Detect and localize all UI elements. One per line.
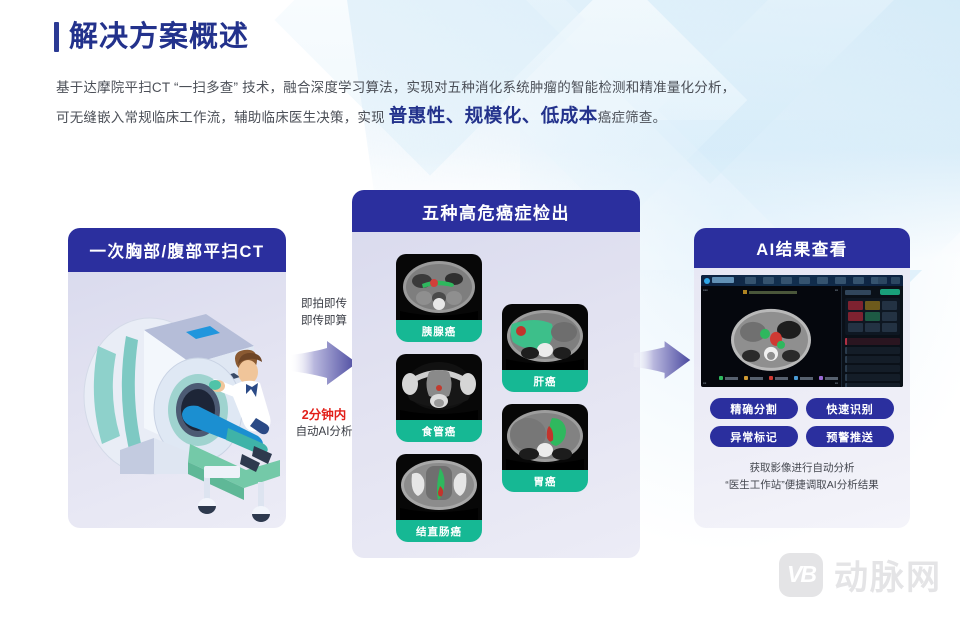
flow-caption-upload-1: 即拍即传 <box>288 296 360 313</box>
workstation-toolbar <box>701 275 903 286</box>
watermark-logo: VB <box>779 553 823 597</box>
cancer-card-stomach[interactable]: 胃癌 <box>502 404 588 492</box>
panel-ai-results-body: ■■■ ■■ ■■ ■■ 精确分割 快速识别 异常标记 预警 <box>694 268 910 528</box>
title-accent-bar <box>54 22 59 52</box>
workstation-corner-info: ■■ <box>835 382 838 385</box>
ai-feature-tags: 精确分割 快速识别 异常标记 预警推送 <box>706 398 898 447</box>
ct-slice-stomach <box>502 404 588 470</box>
panel-cancer-detection-body: 胰腺癌 食管癌 <box>352 232 640 558</box>
cancer-label-pancreas: 胰腺癌 <box>396 320 482 342</box>
workstation-corner-info: ■■ <box>703 382 706 385</box>
ct-slice-liver <box>502 304 588 370</box>
workstation-legend <box>719 376 838 380</box>
page-header: 解决方案概述 <box>54 22 249 52</box>
watermark-text: 动脉网 <box>834 550 942 599</box>
flow-arrow-1-wrap <box>288 340 360 391</box>
panel-ai-results-title: AI结果查看 <box>694 228 910 268</box>
flow-caption-upload-2: 即传即算 <box>288 313 360 330</box>
intro-line-1: 基于达摩院平扫CT “一扫多查” 技术，融合深度学习算法，实现对五种消化系统肿瘤… <box>56 74 756 102</box>
workstation-findings-grid <box>845 298 900 335</box>
workstation-menu <box>745 277 882 284</box>
intro-line-2: 可无缝嵌入常规临床工作流，辅助临床医生决策，实现 普惠性、规模化、低成本癌症筛查… <box>56 102 756 132</box>
cancer-card-esophagus[interactable]: 食管癌 <box>396 354 482 442</box>
ct-slice-pancreas <box>396 254 482 320</box>
cancer-label-esophagus: 食管癌 <box>396 420 482 442</box>
cancer-card-liver[interactable]: 肝癌 <box>502 304 588 392</box>
ai-note-2: “医生工作站”便捷调取AI分析结果 <box>694 477 910 494</box>
intro-paragraph: 基于达摩院平扫CT “一扫多查” 技术，融合深度学习算法，实现对五种消化系统肿瘤… <box>56 74 756 132</box>
ai-note-1: 获取影像进行自动分析 <box>694 460 910 477</box>
cancer-card-colorectal[interactable]: 结直肠癌 <box>396 454 482 542</box>
intro-highlight: 普惠性、规模化、低成本 <box>389 105 598 126</box>
cancer-label-stomach: 胃癌 <box>502 470 588 492</box>
panel-cancer-detection: 五种高危癌症检出 胰腺癌 <box>352 190 640 558</box>
workstation-viewer: ■■■ ■■ ■■ ■■ <box>701 286 841 387</box>
panel-ct-scan-title: 一次胸部/腹部平扫CT <box>68 228 286 272</box>
flow-caption-auto-ai: 自动AI分析 <box>288 424 360 441</box>
workstation-findings-list <box>845 338 900 387</box>
tag-fast-recognition[interactable]: 快速识别 <box>806 398 894 419</box>
workstation-annotation <box>749 291 797 294</box>
workstation-brand <box>712 277 734 283</box>
cancer-label-liver: 肝癌 <box>502 370 588 392</box>
cancer-label-colorectal: 结直肠癌 <box>396 520 482 542</box>
intro-line-2-suffix: 癌症筛查。 <box>598 110 667 125</box>
ct-slice-colorectal <box>396 454 482 520</box>
tag-precise-segmentation[interactable]: 精确分割 <box>710 398 798 419</box>
workstation-logo-icon <box>704 278 710 284</box>
right-arrow-icon <box>289 340 359 386</box>
panel-cancer-detection-title: 五种高危癌症检出 <box>352 190 640 232</box>
intro-line-2-prefix: 可无缝嵌入常规临床工作流，辅助临床医生决策，实现 <box>56 110 389 125</box>
tag-anomaly-marking[interactable]: 异常标记 <box>710 426 798 447</box>
panel-ct-scan: 一次胸部/腹部平扫CT <box>68 228 286 528</box>
workstation-corner-info: ■■ <box>835 289 838 292</box>
workstation-toolbar-actions <box>878 277 900 284</box>
right-arrow-icon <box>632 338 692 382</box>
ai-workstation-screenshot[interactable]: ■■■ ■■ ■■ ■■ <box>701 275 903 387</box>
workstation-corner-info: ■■■ <box>703 289 708 292</box>
flow-step-2 <box>632 338 692 387</box>
ct-slice-esophagus <box>396 354 482 420</box>
workstation-ct-slice <box>729 303 813 375</box>
ai-notes: 获取影像进行自动分析 “医生工作站”便捷调取AI分析结果 <box>694 460 910 494</box>
flow-caption-duration: 2分钟内 <box>288 407 360 424</box>
workstation-side-panel <box>841 286 903 387</box>
tag-alert-push[interactable]: 预警推送 <box>806 426 894 447</box>
ct-scanner-illustration <box>68 278 286 528</box>
page-title: 解决方案概述 <box>69 23 249 52</box>
watermark: VB 动脉网 <box>779 550 942 599</box>
panel-ai-results: AI结果查看 <box>694 228 910 528</box>
panel-ct-scan-body <box>68 272 286 528</box>
flow-step-1: 即拍即传 即传即算 2分钟内 自动AI分析 <box>288 296 360 441</box>
workstation-side-header <box>845 289 900 295</box>
cancer-card-pancreas[interactable]: 胰腺癌 <box>396 254 482 342</box>
